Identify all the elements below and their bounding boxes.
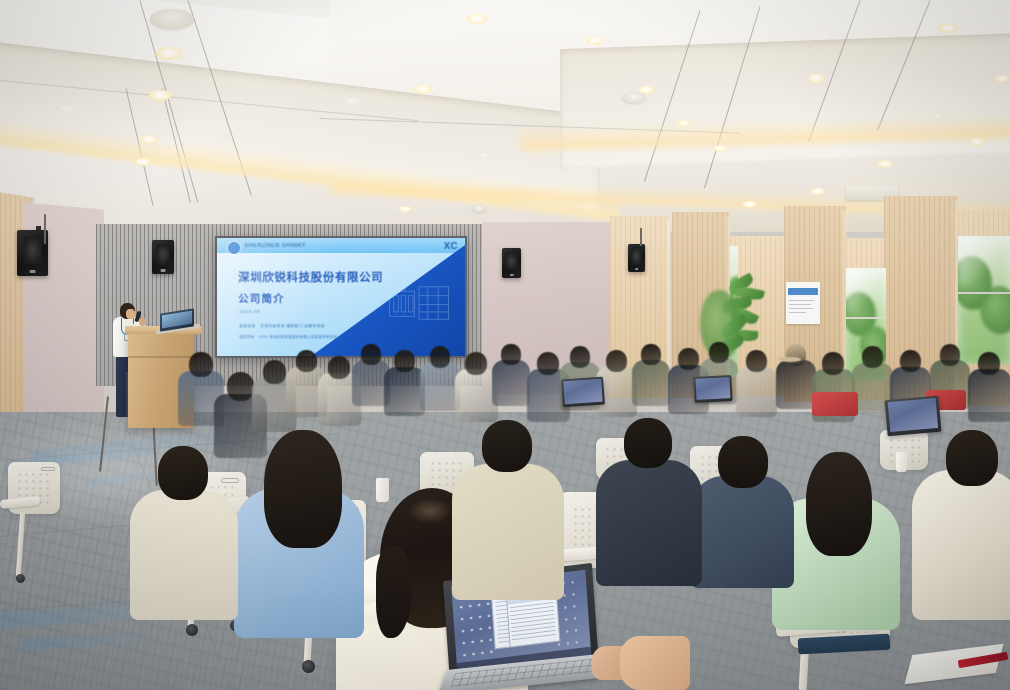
company-logo-icon [228, 242, 240, 254]
audience-member-head [978, 352, 1000, 375]
chair-handle [221, 478, 239, 483]
downlight [133, 158, 152, 166]
attendee-head [624, 418, 672, 468]
water-bottle[interactable] [896, 452, 907, 472]
speaker-badge [509, 274, 513, 276]
audience-member-head [570, 346, 591, 368]
audience-member-head [465, 352, 487, 375]
audience-member-head [709, 342, 729, 363]
slide-logo-text: SHENZHEN SHINRY [244, 243, 306, 249]
attendee-laptop[interactable] [885, 396, 942, 437]
ceiling-speaker-icon [150, 9, 194, 29]
downlight [994, 75, 1010, 83]
downlight [586, 36, 604, 45]
slide-corner-mark: XC [444, 241, 458, 252]
audience-member-head [394, 350, 415, 372]
speaker-badge [161, 269, 166, 272]
speaker-cable [640, 228, 642, 246]
downlight [810, 188, 825, 195]
attendee-hair [806, 452, 872, 556]
audience-member-head [361, 344, 381, 365]
chair-handle [41, 467, 55, 471]
attendee-torso [690, 476, 794, 588]
poster-header-band [788, 288, 818, 295]
audience-member-torso [384, 367, 425, 417]
audience-member-head [501, 344, 521, 365]
slide-title: 深圳欣锐科技股份有限公司 [238, 269, 383, 285]
attendee-laptop[interactable] [561, 377, 605, 408]
audience-member-head [940, 344, 961, 366]
ceiling [0, 0, 1010, 232]
conference-room-photo: SHENZHEN SHINRY XC [0, 0, 1010, 690]
audience-member-head [606, 350, 627, 372]
ceiling-sensor-icon [472, 205, 486, 212]
audience-member-head [900, 350, 921, 372]
wall-speaker-2 [152, 240, 174, 274]
downlight [807, 74, 825, 83]
presenter-hand [139, 318, 146, 326]
wall-speaker-3 [502, 248, 521, 278]
attendee-head [718, 436, 768, 488]
audience-member-head [296, 350, 317, 372]
audience-member-head [263, 360, 286, 384]
slide-surface: SHENZHEN SHINRY XC [217, 238, 465, 356]
audience-member-head [537, 352, 559, 375]
audience-member-head [227, 372, 254, 401]
speaker-badge [635, 268, 639, 270]
laptop-screen [563, 378, 602, 404]
presenter-face [126, 309, 135, 319]
audience-member-torso [736, 367, 777, 417]
attendee-laptop[interactable] [693, 375, 732, 403]
attendee-torso [452, 464, 564, 600]
slide-technical-illustration [385, 272, 459, 334]
attendee-torso [596, 460, 702, 586]
downlight [466, 14, 488, 24]
downlight [968, 138, 985, 146]
window-content-rows [510, 602, 556, 643]
podium-edge [128, 356, 194, 358]
laptop-screen [887, 398, 938, 432]
downlight [398, 206, 412, 212]
attendee-forearm [620, 636, 690, 690]
cap-brim [778, 357, 801, 362]
slide-date: 2024.08 [239, 309, 260, 314]
attendee-head [946, 430, 998, 486]
downlight [938, 24, 958, 33]
hair-highlight [408, 498, 452, 524]
wall-cable [44, 214, 46, 244]
downlight [155, 47, 183, 60]
audience-member-torso [968, 369, 1010, 421]
downlight [676, 120, 691, 127]
audience-member-head [678, 348, 699, 370]
audience-member-head [822, 352, 844, 375]
red-chair-accent [812, 392, 858, 416]
downlight [877, 160, 893, 168]
downlight [742, 201, 757, 208]
attendee-torso [912, 470, 1010, 620]
audience-member-torso [492, 360, 530, 407]
downlight [148, 90, 172, 101]
downlight [139, 135, 159, 144]
projection-screen: SHENZHEN SHINRY XC [215, 236, 467, 358]
audience-member-head [430, 346, 451, 368]
audience-member-torso [420, 362, 460, 411]
wall-notice-poster [786, 282, 820, 324]
audience-member-torso [632, 360, 670, 407]
audience-member-torso [776, 360, 816, 409]
slide-fine-text-2: 版权所有 · 2024 深圳欣锐科技股份有限公司保留所有权利 [239, 334, 337, 339]
slide-subtitle: 公司简介 [238, 291, 285, 306]
ceiling-speaker-icon [622, 92, 646, 103]
audience-member-head [189, 352, 213, 377]
audience-member-cap [786, 344, 807, 366]
attendee-torso [130, 490, 238, 620]
laptop-screen [695, 377, 730, 400]
window-right [958, 236, 1010, 364]
wall-speaker-4 [628, 244, 645, 272]
downlight [413, 85, 432, 94]
audience-member-head [328, 356, 350, 379]
water-bottle[interactable] [376, 478, 389, 502]
attendee-head [158, 446, 208, 500]
attendee-hair [264, 430, 342, 548]
downlight [712, 145, 727, 152]
speaker-badge [29, 270, 36, 274]
audience-member-head [641, 344, 661, 365]
attendee-head [482, 420, 532, 472]
chair-caster [186, 624, 198, 636]
audience-member-head [746, 350, 767, 372]
chair-caster [16, 574, 25, 583]
audience-member-head [862, 346, 883, 368]
slide-fine-text-1: 高保密级 · 仅限内部使用 编制部门:战略市场部 [239, 324, 324, 329]
chair-caster [302, 660, 315, 673]
slide-triangle-graphic [311, 245, 465, 356]
